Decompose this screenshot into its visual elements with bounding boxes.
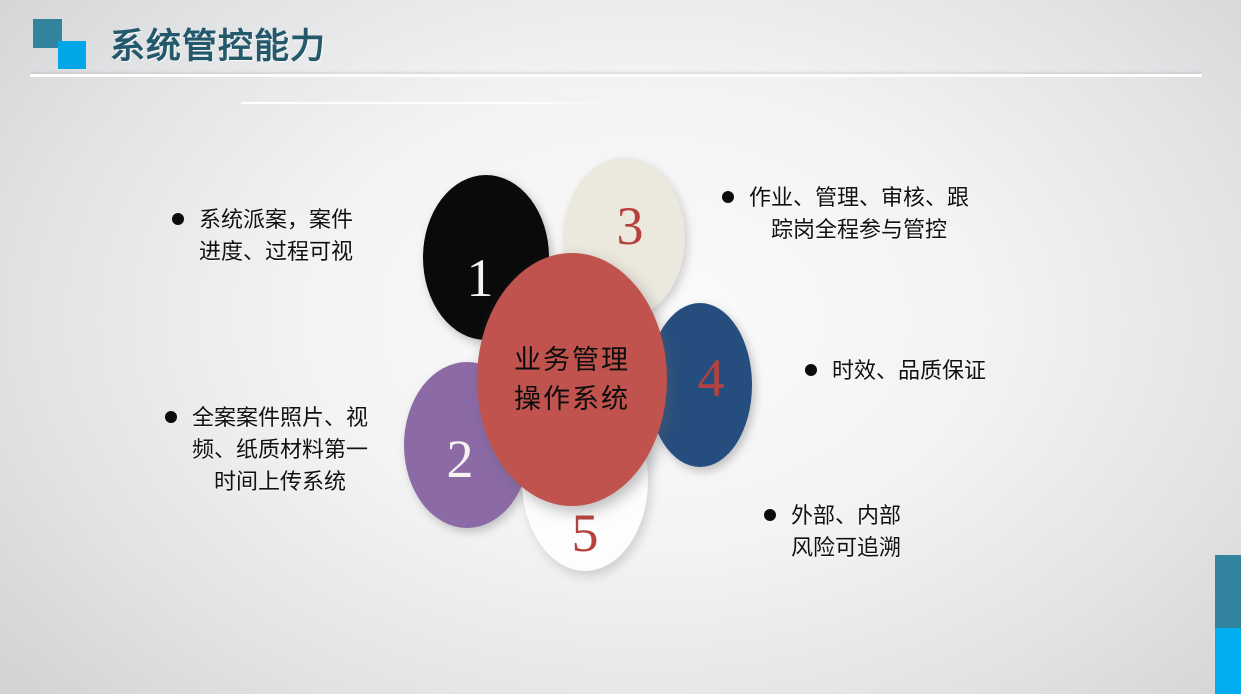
bullet-item-1: 系统派案，案件 进度、过程可视: [172, 204, 412, 268]
bullet-dot-icon: [165, 411, 177, 423]
slide: 系统管控能力 1 3 2 4 5 业务管理 操作系统 系统派案，案件 进度、过程…: [0, 0, 1241, 694]
bullet-item-4: 时效、品质保证: [805, 355, 1045, 387]
header-divider: [30, 74, 1202, 77]
bullet-text-4: 时效、品质保证: [832, 355, 986, 387]
secondary-divider: [241, 102, 603, 104]
petal-5-number: 5: [572, 506, 599, 560]
petal-3-number: 3: [617, 199, 644, 253]
bullet-dot-icon: [722, 191, 734, 203]
bullet-text-1: 系统派案，案件 进度、过程可视: [199, 204, 353, 268]
bullet-item-2: 全案案件照片、视 频、纸质材料第一 时间上传系统: [165, 402, 430, 498]
center-ellipse[interactable]: 业务管理 操作系统: [477, 253, 667, 506]
petal-1-number: 1: [467, 251, 494, 305]
bullet-text-3: 作业、管理、审核、跟 踪岗全程参与管控: [749, 182, 969, 246]
bullet-text-2: 全案案件照片、视 频、纸质材料第一 时间上传系统: [192, 402, 368, 498]
center-label-line1: 业务管理: [514, 341, 630, 379]
bullet-item-5: 外部、内部 风险可追溯: [764, 500, 974, 564]
page-title: 系统管控能力: [110, 18, 326, 69]
bullet-text-5: 外部、内部 风险可追溯: [791, 500, 901, 564]
center-label-line2: 操作系统: [514, 380, 630, 418]
bullet-dot-icon: [172, 213, 184, 225]
bullet-dot-icon: [805, 364, 817, 376]
bullet-dot-icon: [764, 509, 776, 521]
edge-decoration-cyan: [1215, 628, 1241, 694]
bullet-item-3: 作业、管理、审核、跟 踪岗全程参与管控: [722, 182, 1042, 246]
header-square-cyan-icon: [58, 41, 86, 69]
edge-decoration-teal: [1215, 555, 1241, 628]
petal-2-number: 2: [447, 432, 474, 486]
petal-4-number: 4: [698, 351, 725, 405]
